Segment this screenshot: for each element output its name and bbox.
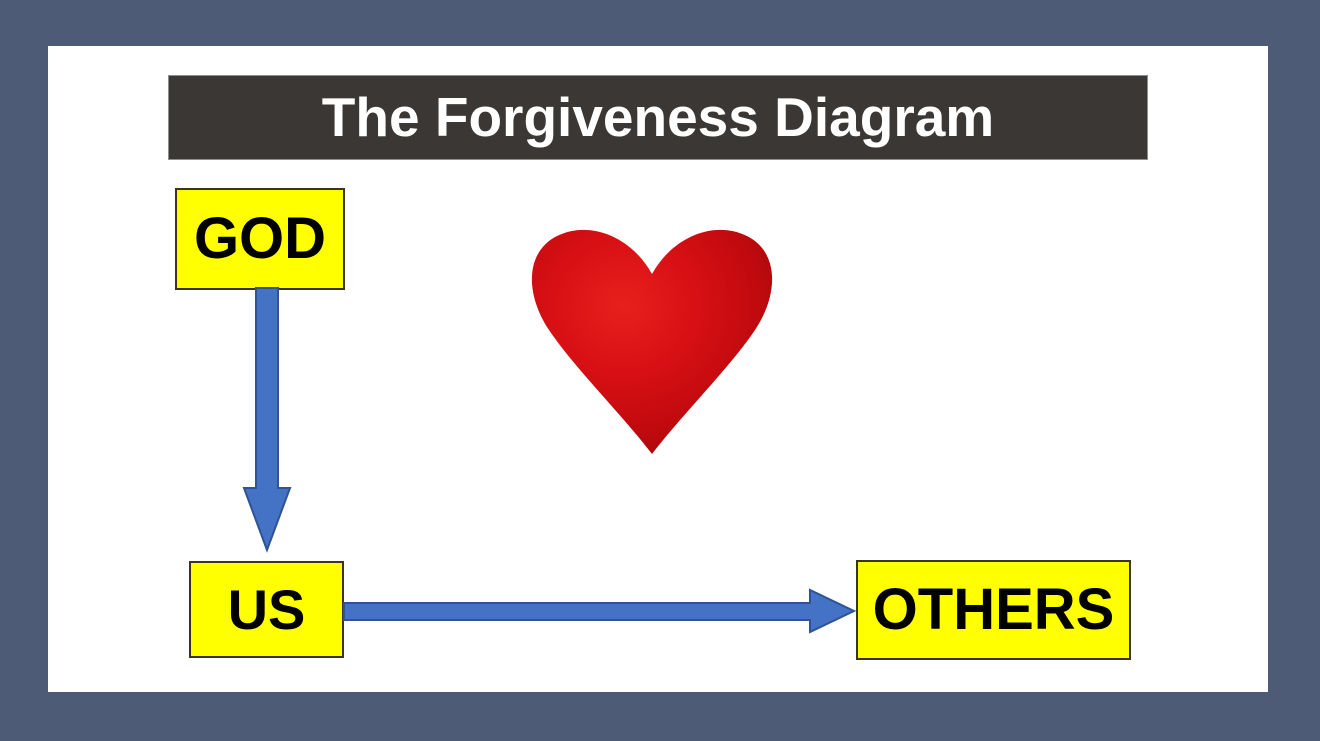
node-label-god: GOD: [194, 210, 326, 268]
slide-frame: The Forgiveness Diagram GOD US OTHERS: [0, 0, 1320, 741]
node-label-others: OTHERS: [873, 581, 1115, 639]
heart-icon: [527, 226, 777, 454]
arrow-god-to-us-shape: [244, 288, 290, 550]
node-label-us: US: [228, 582, 306, 638]
slide-canvas: The Forgiveness Diagram GOD US OTHERS: [48, 46, 1268, 692]
node-box-god[interactable]: GOD: [175, 188, 345, 290]
node-box-others[interactable]: OTHERS: [856, 560, 1131, 660]
arrow-us-to-others-shape: [344, 590, 854, 632]
node-box-us[interactable]: US: [189, 561, 344, 658]
arrow-us-to-others: [344, 589, 856, 633]
title-banner: The Forgiveness Diagram: [168, 75, 1148, 160]
arrow-god-to-us: [243, 288, 291, 552]
heart-shape: [532, 230, 772, 454]
page-title: The Forgiveness Diagram: [322, 90, 994, 145]
